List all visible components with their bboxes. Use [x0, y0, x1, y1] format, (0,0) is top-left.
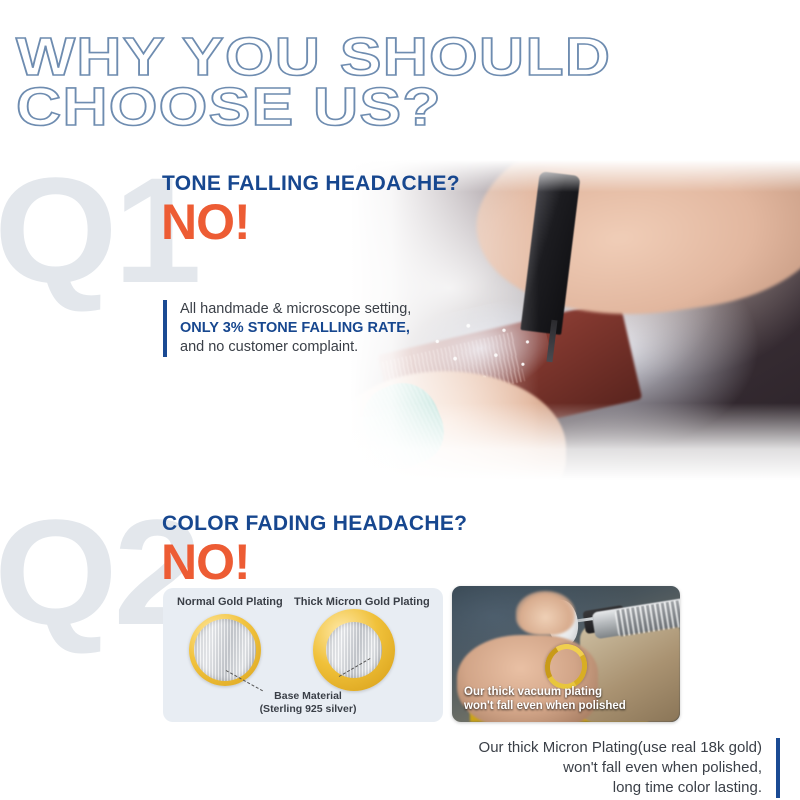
thick-plating-circle — [313, 609, 395, 691]
q1-heading: TONE FALLING HEADACHE? — [162, 172, 460, 196]
q2-answer: NO! — [161, 537, 250, 587]
q2-caption-line-2: won't fall even when polished — [464, 699, 626, 713]
bottom-note-line-2: won't fall even when polished, — [479, 758, 762, 778]
diagram-label-thick: Thick Micron Gold Plating — [294, 596, 430, 608]
thick-plating-base-material — [326, 622, 382, 678]
polishing-thumb — [516, 591, 575, 635]
page-title: WHY YOU SHOULD CHOOSE US? — [16, 34, 776, 130]
q2-photo-caption: Our thick vacuum plating won't fall even… — [464, 685, 626, 713]
q2-photo: Our thick vacuum plating won't fall even… — [452, 586, 680, 722]
normal-plating-base-material — [194, 619, 256, 681]
q1-photo — [350, 160, 800, 480]
bottom-note: Our thick Micron Plating(use real 18k go… — [479, 738, 780, 798]
title-line-2: CHOOSE US? — [16, 84, 800, 130]
q1-desc-line-3: and no customer complaint. — [180, 338, 411, 357]
title-line-1: WHY YOU SHOULD — [16, 34, 800, 80]
section-q1: Q1 TONE FALLING HEADACHE? NO! All handma… — [0, 160, 800, 490]
q2-heading: COLOR FADING HEADACHE? — [162, 512, 467, 536]
q1-answer: NO! — [161, 197, 250, 247]
q2-caption-line-1: Our thick vacuum plating — [464, 685, 626, 699]
diagram-caption-line-1: Base Material — [223, 690, 393, 703]
normal-plating-circle — [189, 614, 261, 686]
bottom-note-line-3: long time color lasting. — [479, 778, 762, 798]
q1-desc-line-2: ONLY 3% STONE FALLING RATE, — [180, 319, 411, 338]
q1-desc-line-1: All handmade & microscope setting, — [180, 300, 411, 319]
q1-photo-fade-bottom — [350, 403, 800, 480]
gold-plating-diagram: Normal Gold Plating Thick Micron Gold Pl… — [163, 588, 443, 722]
q1-description: All handmade & microscope setting, ONLY … — [163, 300, 411, 357]
diagram-caption-line-2: (Sterling 925 silver) — [223, 703, 393, 716]
diagram-label-normal: Normal Gold Plating — [177, 596, 283, 608]
bottom-note-line-1: Our thick Micron Plating(use real 18k go… — [479, 738, 762, 758]
infographic-page: WHY YOU SHOULD CHOOSE US? Q1 TONE FALLIN… — [0, 0, 800, 800]
diagram-caption: Base Material (Sterling 925 silver) — [223, 690, 393, 716]
